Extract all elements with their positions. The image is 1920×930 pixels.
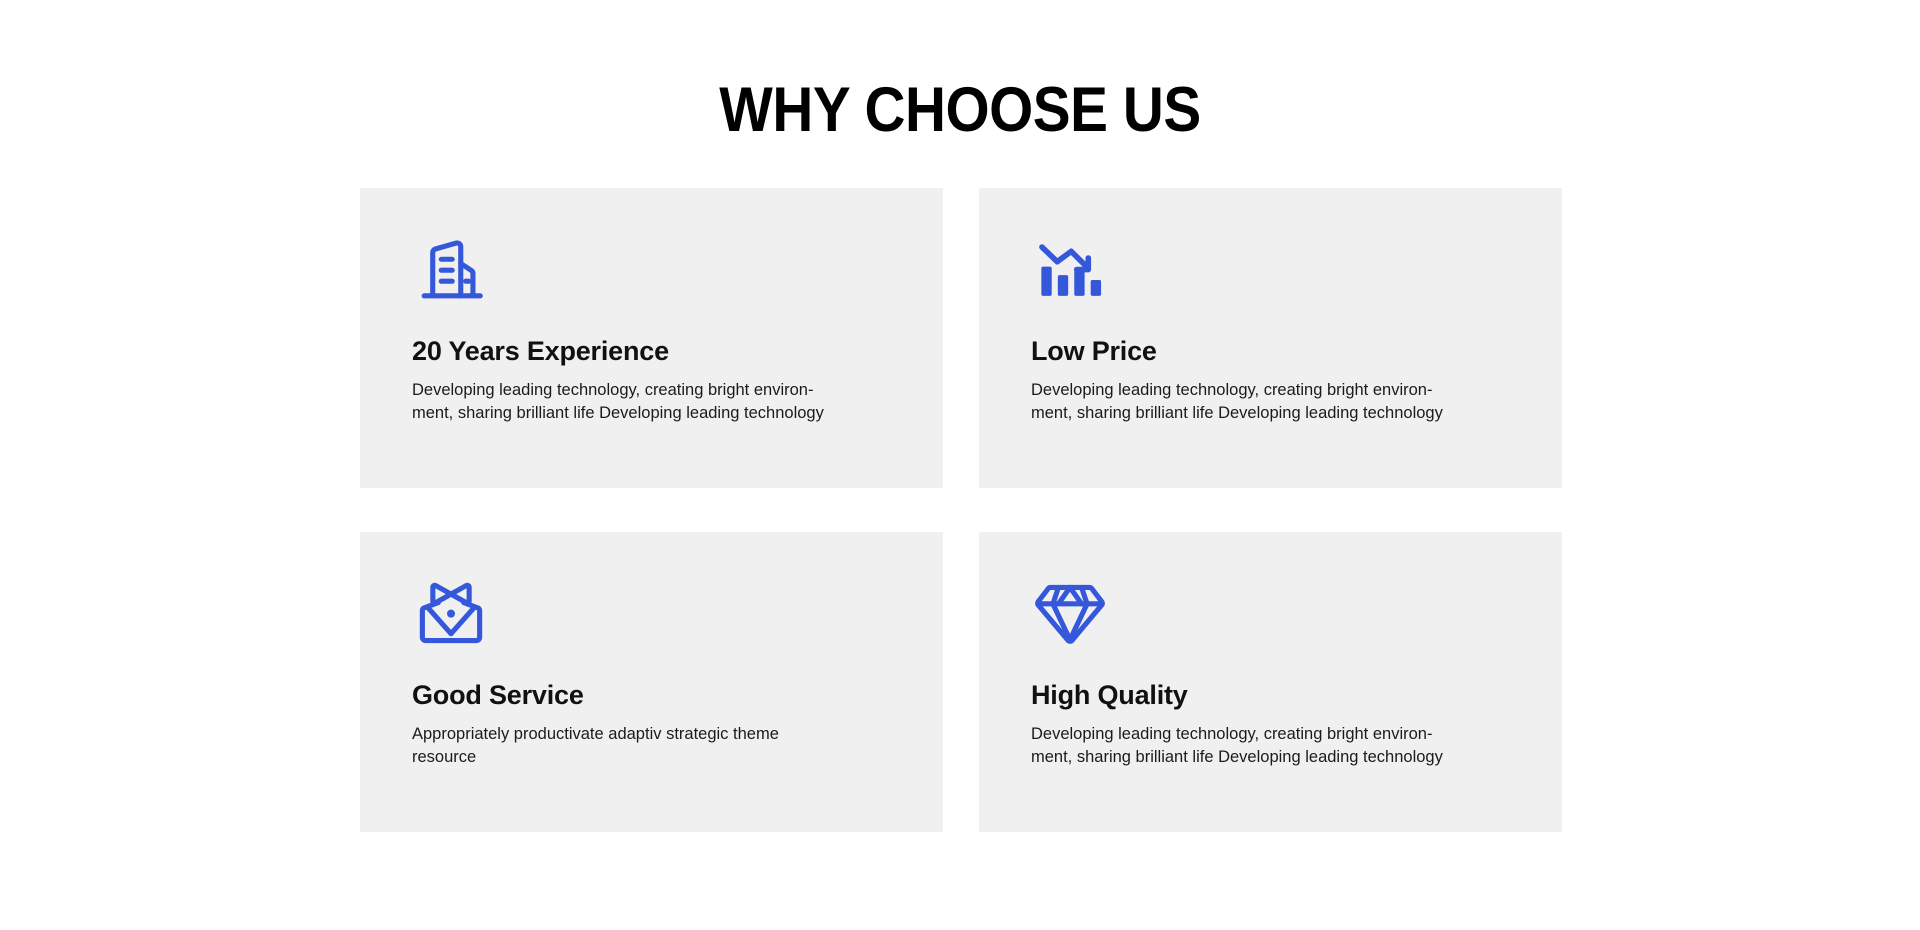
diamond-gem-icon (1031, 574, 1109, 652)
feature-card-description: Developing leading technology, creating … (412, 379, 832, 424)
feature-card-description: Appropriately productivate adaptiv strat… (412, 723, 832, 768)
feature-card-low-price[interactable]: Low Price Developing leading technology,… (979, 188, 1562, 488)
feature-card-grid: 20 Years Experience Developing leading t… (360, 188, 1562, 832)
feature-card-title: High Quality (1031, 678, 1510, 712)
feature-card-good-service[interactable]: Good Service Appropriately productivate … (360, 532, 943, 832)
feature-card-title: Good Service (412, 678, 891, 712)
feature-card-high-quality[interactable]: High Quality Developing leading technolo… (979, 532, 1562, 832)
tuxedo-bowtie-icon (412, 574, 490, 652)
feature-card-description: Developing leading technology, creating … (1031, 723, 1451, 768)
feature-card-title: Low Price (1031, 334, 1510, 368)
feature-card-title: 20 Years Experience (412, 334, 891, 368)
why-choose-us-section: WHY CHOOSE US 20 Years Experience Develo… (0, 0, 1920, 930)
descending-bar-chart-icon (1031, 230, 1109, 308)
page-title: WHY CHOOSE US (96, 74, 1824, 146)
feature-card-description: Developing leading technology, creating … (1031, 379, 1451, 424)
office-building-icon (412, 230, 490, 308)
feature-card-20-years-experience[interactable]: 20 Years Experience Developing leading t… (360, 188, 943, 488)
